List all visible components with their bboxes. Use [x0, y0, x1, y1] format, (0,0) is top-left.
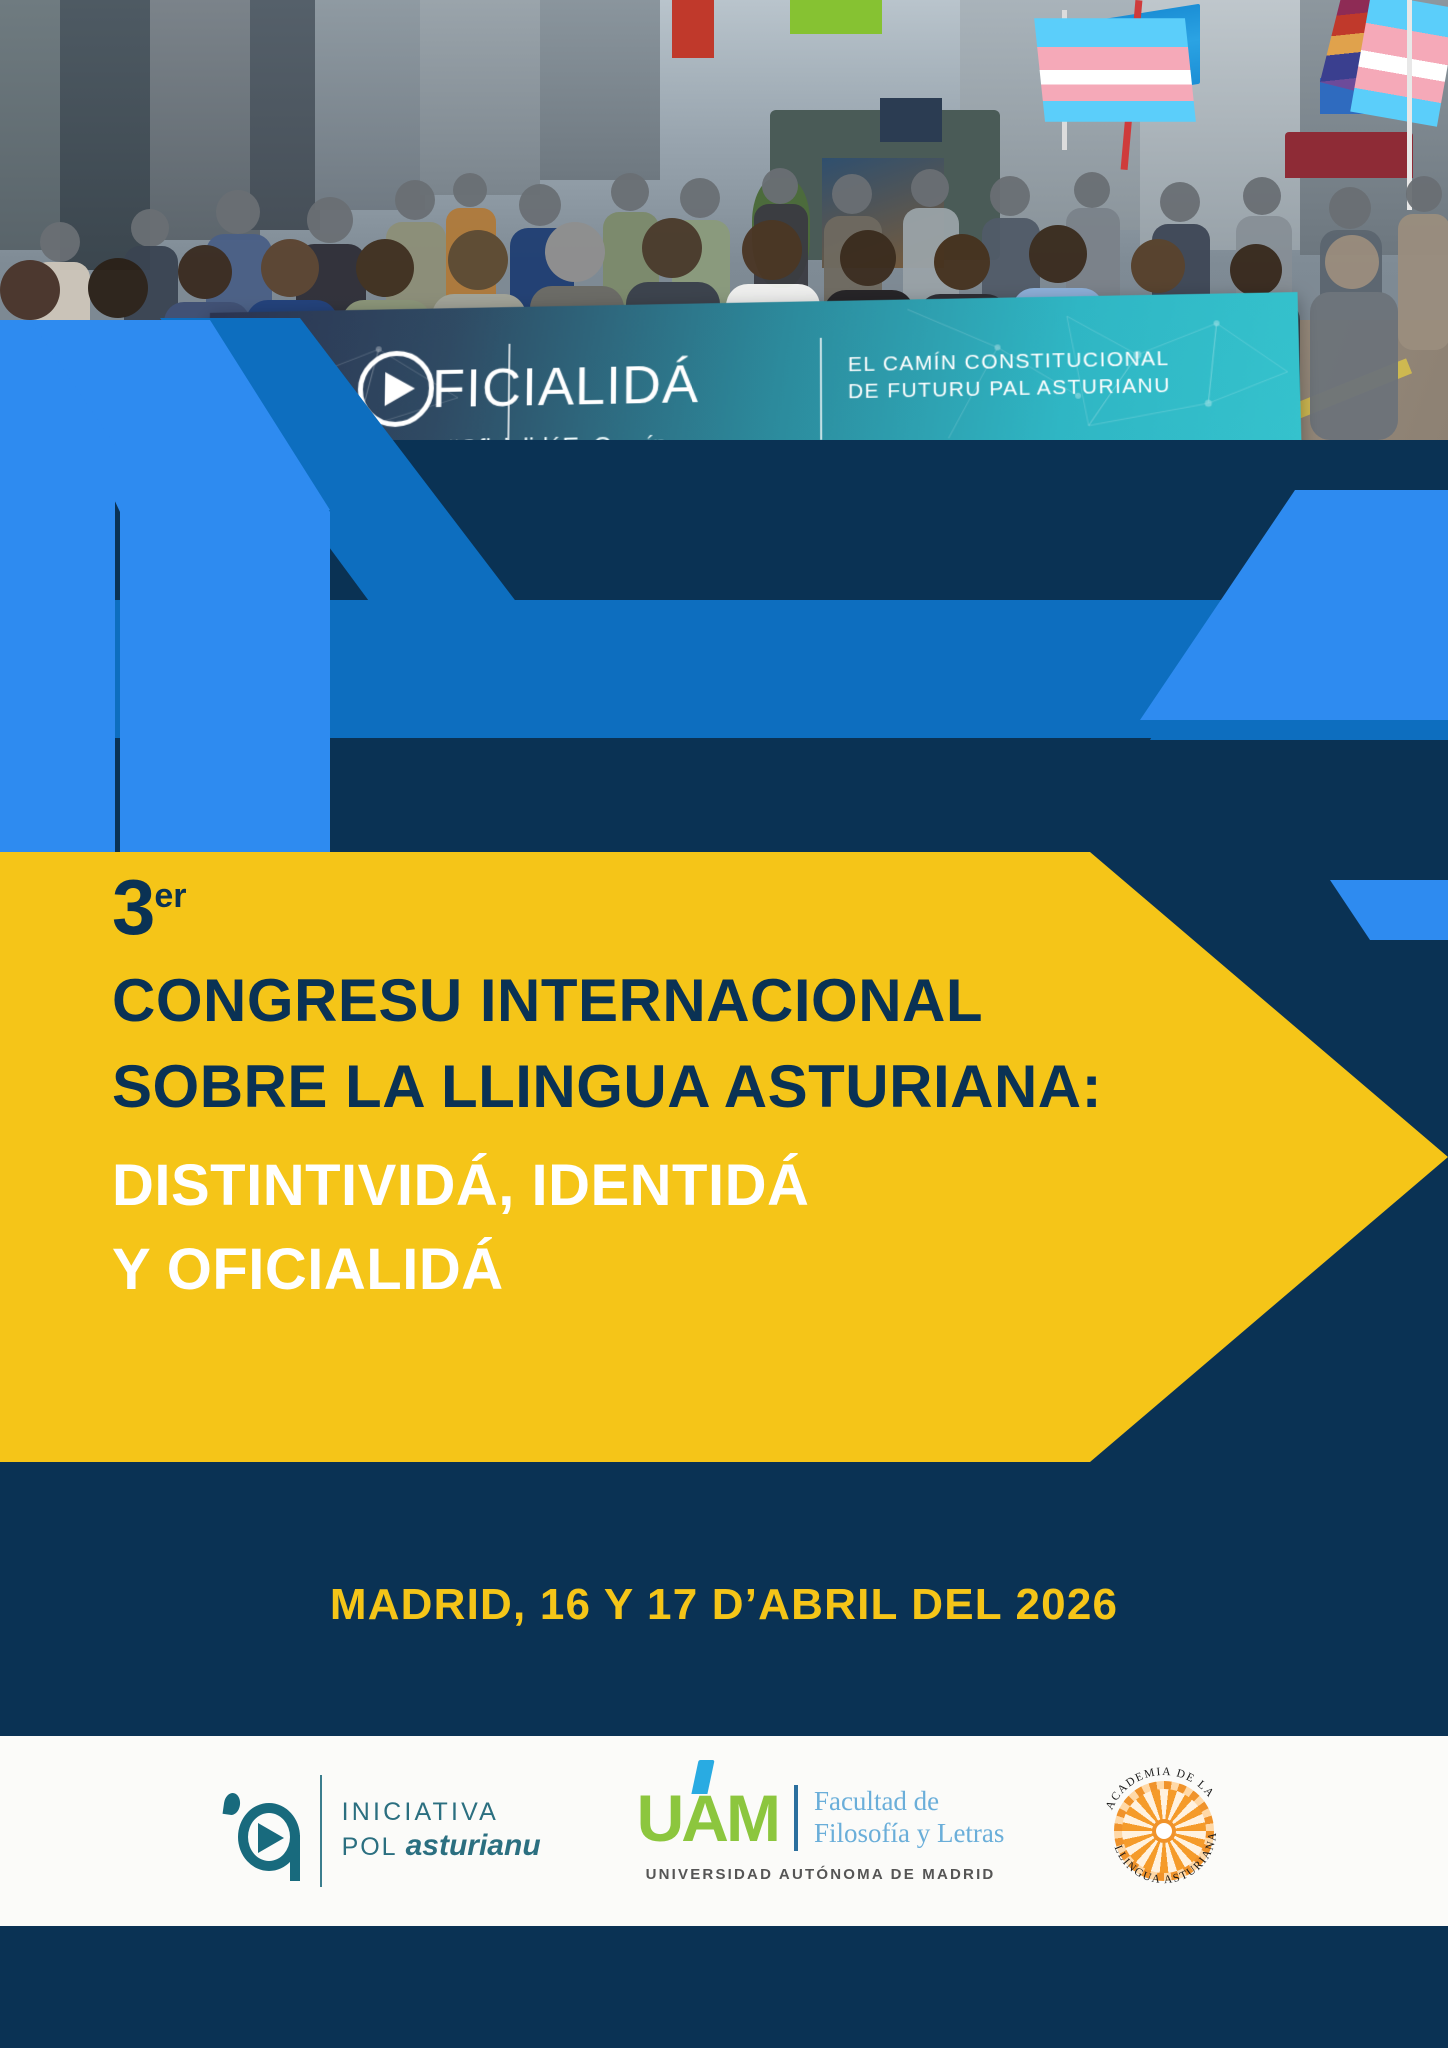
- event-date: MADRID, 16 Y 17 D’ABRIL DEL 2026: [0, 1580, 1448, 1630]
- subtitle-line-1: DISTINTIVIDÁ, IDENTIDÁ: [112, 1148, 1292, 1225]
- academia-seal-icon: ACADEMIA DE LA LLINGUA ASTURIANA: [1100, 1767, 1228, 1895]
- play-triangle-icon: [258, 1823, 284, 1853]
- transgender-flag: [1034, 18, 1196, 121]
- uam-faculty-line-1: Facultad de: [814, 1786, 1004, 1818]
- poster-root: ATIVA turianu FICIALIDÁ EL CAMÍN CONSTIT…: [0, 0, 1448, 2048]
- uam-subtitle: UNIVERSIDAD AUTÓNOMA DE MADRID: [646, 1866, 996, 1883]
- uam-faculty-line-2: Filosofía y Letras: [814, 1818, 1004, 1850]
- banner-divider: [820, 338, 822, 440]
- uam-letters: UAM: [637, 1780, 778, 1856]
- poster-title-block: 3er CONGRESU INTERNACIONAL SOBRE LA LLIN…: [112, 872, 1292, 1309]
- sponsor-logo-band: INICIATIVA POL asturianu UAM Facultad de…: [0, 1736, 1448, 1926]
- banner-wordmark: FICIALIDÁ: [431, 353, 699, 420]
- ordinal-number: 3er: [112, 872, 1292, 944]
- logo-divider: [320, 1775, 322, 1887]
- shop-sign: [672, 0, 714, 58]
- shop-sign: [790, 0, 882, 34]
- iniciativa-pol: POL: [342, 1833, 406, 1861]
- iniciativa-line-2: POL asturianu: [342, 1828, 541, 1865]
- ordinal-digit: 3: [112, 863, 154, 951]
- svg-text:LLINGUA ASTURIANA: LLINGUA ASTURIANA: [1112, 1830, 1220, 1886]
- uam-top-row: UAM Facultad de Filosofía y Letras: [637, 1780, 1005, 1856]
- iniciativa-wordmark: INICIATIVA POL asturianu: [342, 1797, 541, 1864]
- logo-iniciativa-pol-asturianu[interactable]: INICIATIVA POL asturianu: [220, 1775, 541, 1887]
- iniciativa-line-1: INICIATIVA: [342, 1797, 541, 1828]
- svg-text:ACADEMIA DE LA: ACADEMIA DE LA: [1104, 1767, 1217, 1812]
- logo-academia-llingua-asturiana[interactable]: ACADEMIA DE LA LLINGUA ASTURIANA: [1100, 1767, 1228, 1895]
- logo-uam-facultad[interactable]: UAM Facultad de Filosofía y Letras UNIVE…: [637, 1780, 1005, 1883]
- banner-slogan: EL CAMÍN CONSTITUCIONAL DE FUTURU PAL AS…: [848, 346, 1171, 406]
- apostrophe-icon: [222, 1792, 241, 1816]
- banner-flag: [880, 98, 942, 142]
- iniciativa-a-mark-icon: [220, 1787, 300, 1875]
- subtitle-line-2: Y OFICIALIDÁ: [112, 1232, 1292, 1309]
- footer-bar: [0, 1926, 1448, 2048]
- uam-faculty-name: Facultad de Filosofía y Letras: [814, 1786, 1004, 1850]
- logo-divider: [794, 1785, 798, 1851]
- title-line-1: CONGRESU INTERNACIONAL: [112, 962, 1292, 1040]
- academia-ring-text: ACADEMIA DE LA LLINGUA ASTURIANA: [1100, 1767, 1228, 1895]
- iniciativa-asturianu: asturianu: [406, 1829, 541, 1862]
- chevron-bright-blue-tip: [1330, 880, 1448, 940]
- title-line-2: SOBRE LA LLINGUA ASTURIANA:: [112, 1048, 1292, 1126]
- ordinal-suffix: er: [154, 877, 186, 915]
